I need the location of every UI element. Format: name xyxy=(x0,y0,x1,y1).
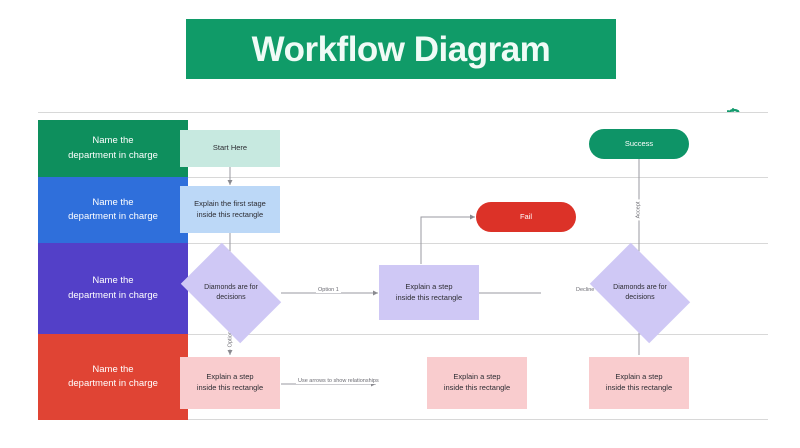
node-step-bottom-center[interactable]: Explain a stepinside this rectangle xyxy=(427,357,527,409)
node-step-bottom-left-label: Explain a stepinside this rectangle xyxy=(197,372,263,394)
node-success-label: Success xyxy=(625,139,653,150)
node-step-bottom-right-label: Explain a stepinside this rectangle xyxy=(606,372,672,394)
node-start-label: Start Here xyxy=(213,143,247,154)
node-first-stage[interactable]: Explain the first stageinside this recta… xyxy=(180,186,280,233)
node-decision-right[interactable]: Diamonds are fordecisions xyxy=(598,264,682,322)
node-first-stage-label: Explain the first stageinside this recta… xyxy=(194,199,266,221)
edge-label-option-one: Option 1 xyxy=(316,287,341,293)
node-success[interactable]: Success xyxy=(589,129,689,159)
node-start[interactable]: Start Here xyxy=(180,130,280,167)
node-step-center[interactable]: Explain a stepinside this rectangle xyxy=(379,265,479,320)
diagram-canvas: Name thedepartment in charge Name thedep… xyxy=(38,112,768,420)
node-fail[interactable]: Fail xyxy=(476,202,576,232)
edge-label-relationships: Use arrows to show relationships xyxy=(296,378,381,384)
node-step-bottom-right[interactable]: Explain a stepinside this rectangle xyxy=(589,357,689,409)
workflow-diagram-page: Workflow Diagram xyxy=(0,0,800,448)
page-title-banner: Workflow Diagram xyxy=(186,19,616,79)
page-title: Workflow Diagram xyxy=(252,32,551,67)
node-fail-label: Fail xyxy=(520,212,532,223)
edge-label-right-vertical: Accept xyxy=(635,200,641,221)
node-step-bottom-left[interactable]: Explain a stepinside this rectangle xyxy=(180,357,280,409)
node-decision-left[interactable]: Diamonds are fordecisions xyxy=(189,264,273,322)
node-step-bottom-center-label: Explain a stepinside this rectangle xyxy=(444,372,510,394)
node-step-center-label: Explain a stepinside this rectangle xyxy=(396,282,462,304)
node-decision-right-label: Diamonds are fordecisions xyxy=(613,283,667,303)
node-decision-left-label: Diamonds are fordecisions xyxy=(204,283,258,303)
